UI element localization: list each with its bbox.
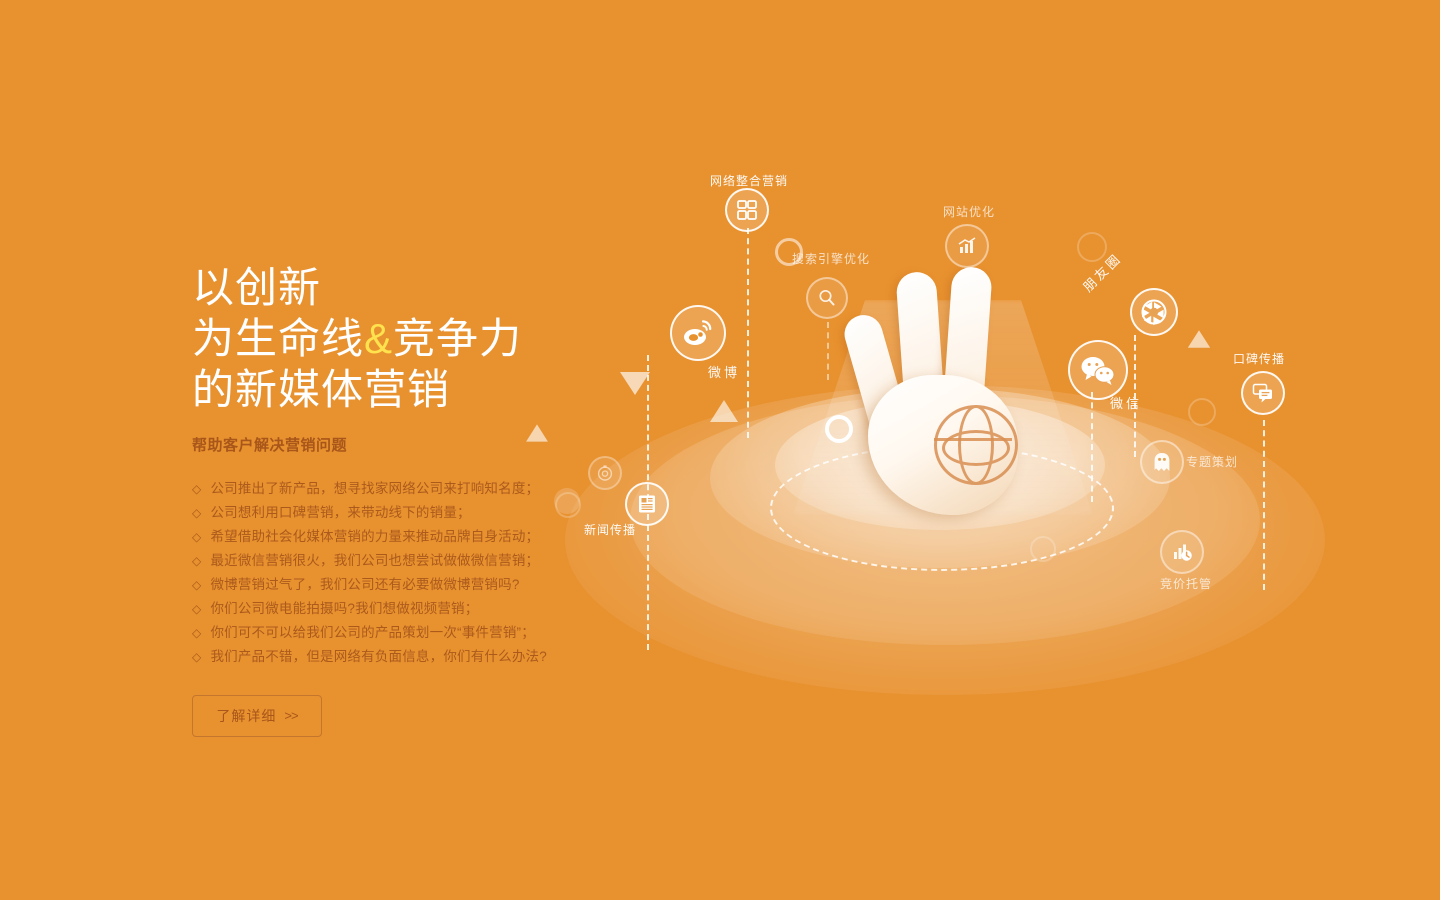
- triangle-up-decoration: [526, 424, 548, 441]
- magnifier-icon[interactable]: [806, 277, 848, 319]
- chevron-right-icon: >>: [284, 708, 297, 723]
- connector-line: [1263, 420, 1265, 590]
- hero-banner: 以创新 为生命线&竞争力 的新媒体营销 帮助客户解决营销问题 ◇公司推出了新产品…: [0, 0, 1440, 900]
- list-item-text: 希望借助社会化媒体营销的力量来推动品牌自身活动；: [210, 525, 539, 549]
- globe-icon: [934, 405, 1018, 485]
- service-label: 网络整合营销: [710, 172, 788, 189]
- headline-ampersand: &: [364, 315, 393, 362]
- chat-bubbles-icon[interactable]: [1241, 371, 1285, 415]
- triangle-down-decoration: [620, 372, 650, 395]
- list-item-text: 你们公司微电能拍摄吗?我们想做视频营销；: [210, 597, 478, 621]
- list-item-text: 你们可不可以给我们公司的产品策划一次“事件营销”；: [210, 621, 535, 645]
- service-label: 竞价托管: [1160, 575, 1212, 592]
- diamond-bullet-icon: ◇: [192, 549, 201, 573]
- headline-line-2-part-b: 竞争力: [393, 315, 522, 362]
- dot-decoration: [554, 488, 580, 514]
- learn-more-label: 了解详细: [216, 706, 276, 726]
- compass-icon: [588, 456, 622, 490]
- chart-clock-icon[interactable]: [1160, 530, 1204, 574]
- bar-chart-arrow-icon[interactable]: [945, 224, 989, 268]
- service-label: 专题策划: [1186, 453, 1238, 470]
- ring-decoration: [825, 415, 853, 443]
- learn-more-button[interactable]: 了解详细 >>: [192, 695, 322, 737]
- connector-line: [647, 525, 649, 650]
- service-label: 搜索引擎优化: [792, 250, 870, 267]
- newspaper-icon[interactable]: [625, 482, 669, 526]
- service-label: 微博: [708, 362, 740, 381]
- list-item-text: 我们产品不错，但是网络有负面信息，你们有什么办法?: [210, 645, 547, 669]
- marketing-services-illustration: 网络整合营销 搜索引擎优化 网站优化: [520, 0, 1440, 900]
- diamond-bullet-icon: ◇: [192, 645, 201, 669]
- diamond-bullet-icon: ◇: [192, 597, 201, 621]
- triangle-up-decoration: [710, 400, 738, 422]
- list-item-text: 最近微信营销很火，我们公司也想尝试做做微信营销；: [210, 549, 539, 573]
- service-label: 口碑传播: [1233, 350, 1285, 367]
- globe-equator-line: [934, 438, 1012, 441]
- diamond-bullet-icon: ◇: [192, 573, 201, 597]
- connector-line: [827, 322, 829, 380]
- diamond-bullet-icon: ◇: [192, 501, 201, 525]
- service-label: 微信: [1110, 393, 1142, 412]
- camera-aperture-icon[interactable]: [1130, 288, 1178, 336]
- triangle-up-decoration: [1188, 330, 1210, 348]
- diamond-bullet-icon: ◇: [192, 525, 201, 549]
- grid-squares-icon[interactable]: [725, 188, 769, 232]
- diamond-bullet-icon: ◇: [192, 621, 201, 645]
- weibo-icon[interactable]: [670, 305, 726, 361]
- diamond-bullet-icon: ◇: [192, 477, 201, 501]
- service-label: 网站优化: [943, 203, 995, 220]
- list-item-text: 公司想利用口碑营销，来带动线下的销量；: [210, 501, 470, 525]
- ring-decoration: [1030, 536, 1056, 562]
- wechat-icon[interactable]: [1068, 340, 1128, 400]
- headline-line-2-part-a: 为生命线: [192, 315, 364, 362]
- ghost-mascot-icon[interactable]: [1140, 440, 1184, 484]
- ring-decoration: [1188, 398, 1216, 426]
- connector-line: [747, 228, 749, 438]
- hand-holding-globe: [850, 265, 1040, 515]
- service-label: 新闻传播: [584, 521, 636, 538]
- list-item-text: 公司推出了新产品，想寻找家网络公司来打响知名度；: [210, 477, 539, 501]
- list-item-text: 微博营销过气了，我们公司还有必要做微博营销吗?: [210, 573, 519, 597]
- connector-line: [1091, 392, 1093, 502]
